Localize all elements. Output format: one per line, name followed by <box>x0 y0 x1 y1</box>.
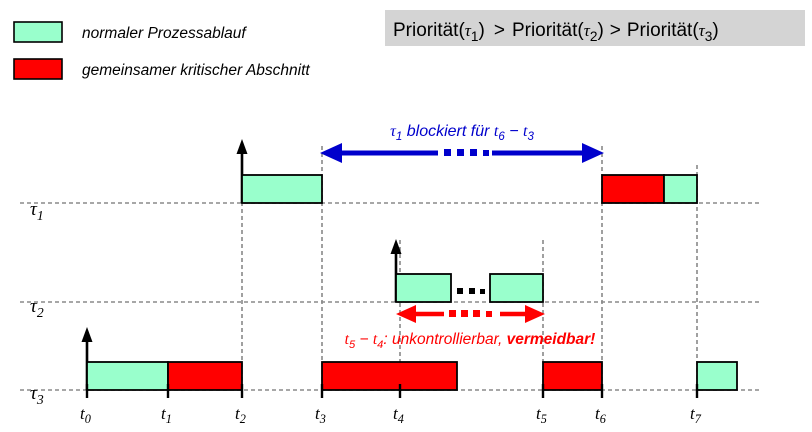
row-tau2 <box>391 239 544 302</box>
uncontrollable-annotation: t5 − t4: unkontrollierbar, vermeidbar! <box>345 305 596 351</box>
tick-label-t6-sub: 6 <box>600 412 607 426</box>
uncontrollable-minus: − <box>355 331 373 348</box>
axis-tick-labels: t0 t1 t2 t3 t4 t5 t6 t7 <box>80 404 702 426</box>
priority-gt-1: > <box>494 20 505 41</box>
priority-close-1: ) <box>479 20 485 41</box>
priority-tau-3-sub: 3 <box>705 29 713 44</box>
blocked-arrow-dots <box>444 149 489 156</box>
legend: normaler Prozessablauf gemeinsamer kriti… <box>14 22 310 79</box>
block-tau3-critical-1 <box>168 362 242 390</box>
block-tau3-critical-2 <box>322 362 457 390</box>
priority-box: Priorität(τ1)>Priorität(τ2)>Priorität(τ3… <box>385 10 805 46</box>
tick-label-t5-sub: 5 <box>541 412 547 426</box>
row-label-tau2: τ2 <box>30 296 44 320</box>
uncontrollable-annotation-arrow <box>396 305 545 323</box>
priority-text-2: Priorität( <box>512 20 584 41</box>
priority-tau-2-sub: 2 <box>590 29 598 44</box>
block-tau1-normal-2 <box>664 175 697 203</box>
priority-formula: Priorität(τ1)>Priorität(τ2)>Priorität(τ3… <box>393 20 719 44</box>
row-label-tau3: τ3 <box>30 383 44 407</box>
blocked-minus: − <box>505 123 523 140</box>
priority-inversion-diagram: normaler Prozessablauf gemeinsamer kriti… <box>0 0 812 432</box>
legend-swatch-normal <box>14 22 62 42</box>
tick-label-t4: t4 <box>393 404 404 426</box>
block-tau3-normal-1 <box>87 362 168 390</box>
block-tau1-normal-1 <box>242 175 322 203</box>
block-tau2-normal-1 <box>396 274 451 302</box>
priority-close-3: ) <box>712 20 718 41</box>
blocked-annotation-arrow <box>320 143 604 163</box>
blocked-annotation: τ1 blockiert für t6 − t3 <box>320 123 604 163</box>
block-tau3-normal-2 <box>697 362 737 390</box>
uncontrollable-rest-text: : unkontrollierbar, <box>383 331 506 348</box>
arrowhead-right-blue <box>582 143 604 163</box>
row-labels: τ1 τ2 τ3 <box>30 199 44 407</box>
continuation-dots-tau2 <box>457 288 485 294</box>
block-tau1-critical-1 <box>602 175 664 203</box>
uncontrollable-annotation-label: t5 − t4: unkontrollierbar, vermeidbar! <box>345 331 596 351</box>
block-tau2-normal-2 <box>490 274 543 302</box>
arrowhead-right-red <box>525 305 545 323</box>
priority-close-2: ) <box>597 20 603 41</box>
tick-label-t3: t3 <box>315 404 326 426</box>
row-label-tau3-sub: 3 <box>36 392 44 407</box>
priority-tau-1-sub: 1 <box>471 29 479 44</box>
tick-label-t5: t5 <box>536 404 547 426</box>
tick-label-t6: t6 <box>595 404 607 426</box>
tick-label-t4-sub: 4 <box>398 412 404 426</box>
tick-label-t1-sub: 1 <box>166 412 172 426</box>
blocked-annotation-label: τ1 blockiert für t6 − t3 <box>390 123 534 143</box>
tick-label-t7-sub: 7 <box>695 412 702 426</box>
block-tau3-critical-3 <box>543 362 602 390</box>
diagram-canvas: normaler Prozessablauf gemeinsamer kriti… <box>0 0 812 432</box>
blocked-tb-sub: 3 <box>527 131 534 143</box>
row-tau1 <box>237 139 698 203</box>
tick-label-t0: t0 <box>80 404 91 426</box>
tick-label-t2: t2 <box>235 404 246 426</box>
blocked-mid-text: blockiert für <box>402 123 494 140</box>
row-label-tau2-sub: 2 <box>37 305 44 320</box>
arrowhead-left-blue <box>320 143 342 163</box>
row-label-tau1-sub: 1 <box>37 208 44 223</box>
tick-label-t1: t1 <box>161 404 172 426</box>
uncontrollable-bold-text: vermeidbar! <box>507 331 596 348</box>
legend-label-critical: gemeinsamer kritischer Abschnitt <box>82 62 310 79</box>
tick-label-t2-sub: 2 <box>240 412 246 426</box>
legend-swatch-critical <box>14 59 62 79</box>
priority-text-3: Priorität( <box>627 20 699 41</box>
legend-label-normal: normaler Prozessablauf <box>82 25 247 42</box>
tick-label-t3-sub: 3 <box>319 412 326 426</box>
arrowhead-left-red <box>396 305 416 323</box>
tick-label-t0-sub: 0 <box>85 412 91 426</box>
priority-gt-2: > <box>610 20 621 41</box>
priority-text-1: Priorität( <box>393 20 465 41</box>
uncontrollable-arrow-dots <box>449 310 492 317</box>
tick-label-t7: t7 <box>690 404 702 426</box>
